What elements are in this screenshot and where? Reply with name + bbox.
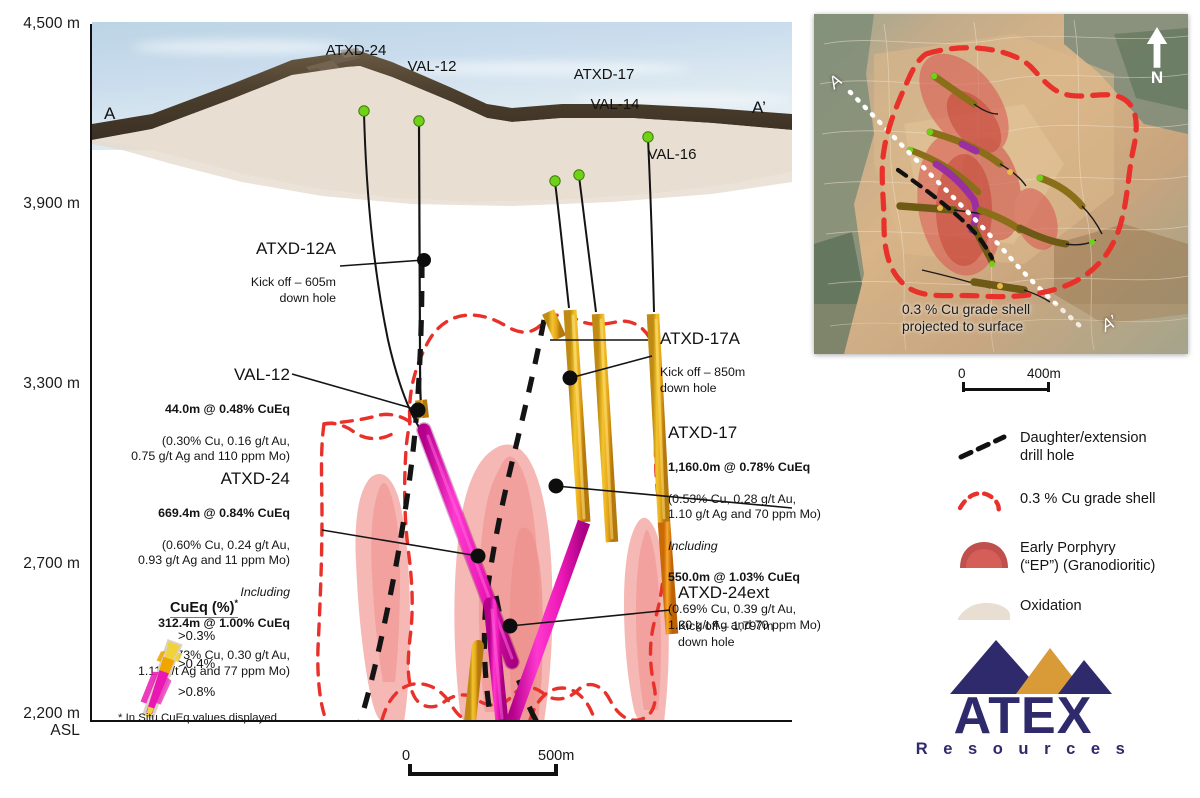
annotation-val-12-main: 44.0m @ 0.48% CuEq [120, 402, 290, 418]
legend-label-grade-shell: 0.3 % Cu grade shell [1020, 491, 1155, 509]
collar-label-val-12: VAL-12 [408, 58, 457, 75]
beige-blob-icon [958, 598, 1010, 620]
legend-item-daughter-hole: Daughter/extension drill hole [958, 430, 1198, 480]
svg-text:N: N [1151, 68, 1163, 86]
section-endpoint-a-prime: A’ [752, 98, 766, 118]
inset-scale-bar [962, 388, 1050, 391]
annotation-atxd-17a-note: Kick off – 850m down hole [660, 365, 745, 395]
legend-label-oxidation: Oxidation [1020, 598, 1082, 616]
y-tick-label-2200: 2,200 m ASL [0, 705, 80, 740]
red-blob-icon [958, 540, 1010, 570]
inset-scale-label-max: 400m [1027, 366, 1061, 381]
annotation-atxd-24-main: 669.4m @ 0.84% CuEq [110, 506, 290, 522]
annotation-val-12-title: VAL-12 [120, 364, 290, 386]
section-scale-label-max: 500m [538, 748, 574, 764]
y-tick-label-3900: 3,900 m [0, 195, 80, 212]
legend-item-oxidation: Oxidation [958, 598, 1198, 638]
annotation-atxd-17-title: ATXD-17 [668, 422, 868, 444]
annotation-atxd-12a: ATXD-12A Kick off – 605m down hole [176, 222, 336, 306]
atxd17a-rod [548, 312, 560, 338]
dashed-red-line-icon [958, 488, 1010, 514]
cueq-legend-title-sup: * [234, 598, 238, 608]
y-tick-label-2700: 2,700 m [0, 555, 80, 572]
inset-map-caption: 0.3 % Cu grade shell projected to surfac… [902, 302, 1030, 335]
annotation-atxd-12a-title: ATXD-12A [176, 238, 336, 259]
legend-item-grade-shell: 0.3 % Cu grade shell [958, 488, 1198, 530]
legend-label-daughter-hole: Daughter/extension drill hole [1020, 430, 1147, 466]
atex-logo-wordmark: ATEX [898, 690, 1148, 742]
annotation-atxd-17a: ATXD-17A Kick off – 850m down hole [660, 312, 840, 396]
cueq-legend-class-2: >0.8% [178, 684, 215, 699]
annotation-atxd-17-detail: (0.53% Cu, 0.28 g/t Au, 1.10 g/t Ag and … [668, 492, 868, 524]
cueq-legend-title-text: CuEq (%) [170, 600, 234, 616]
y-tick-label-4500: 4,500 m [0, 15, 80, 32]
annotation-atxd-17a-title: ATXD-17A [660, 328, 840, 349]
val14-rod [598, 314, 612, 542]
annotation-atxd-24ext-note: Kick off – 1,797m down hole [678, 619, 774, 649]
section-scale-label-zero: 0 [402, 748, 410, 764]
section-endpoint-a: A [104, 104, 115, 124]
collar-label-atxd-24: ATXD-24 [326, 42, 387, 59]
inset-scale-tick-left [962, 382, 965, 392]
section-scale-tick-right [554, 764, 558, 776]
legend-item-early-porphyry: Early Porphyry (“EP”) (Granodioritic) [958, 540, 1198, 588]
inset-scale-label-zero: 0 [958, 366, 966, 381]
dashed-black-line-icon [958, 434, 1010, 460]
annotation-atxd-24ext-title: ATXD-24ext [678, 582, 868, 603]
annotation-atxd-12a-note: Kick off – 605m down hole [251, 275, 336, 305]
collar-label-val-16: VAL-16 [648, 146, 697, 163]
cueq-legend-class-0: >0.3% [178, 628, 215, 643]
inset-scale-tick-right [1047, 382, 1050, 392]
y-tick-label-3300: 3,300 m [0, 375, 80, 392]
annotation-atxd-17-including: Including [668, 539, 868, 555]
collar-label-val-14: VAL-14 [591, 96, 640, 113]
annotation-atxd-17-main: 1,160.0m @ 0.78% CuEq [668, 460, 868, 476]
cross-section-figure: 4,500 m 3,900 m 3,300 m 2,700 m 2,200 m … [0, 0, 1200, 798]
inset-location-map[interactable]: N A A’ 0.3 % Cu grade shell projected to… [814, 14, 1188, 354]
atex-logo: ATEX R e s o u r c e s [898, 634, 1148, 762]
cueq-legend-title: CuEq (%)* [170, 598, 238, 618]
atex-logo-tagline: R e s o u r c e s [898, 740, 1148, 759]
collar-label-atxd-17: ATXD-17 [574, 66, 635, 83]
annotation-atxd-24-detail: (0.60% Cu, 0.24 g/t Au, 0.93 g/t Ag and … [110, 538, 290, 570]
cueq-legend-class-1: >0.4% [178, 656, 215, 671]
section-scale-tick-left [408, 764, 412, 776]
cueq-legend-footnote: * In Situ CuEq values displayed [118, 712, 277, 724]
north-arrow-icon: N [1140, 24, 1174, 86]
legend-label-early-porphyry: Early Porphyry (“EP”) (Granodioritic) [1020, 540, 1155, 576]
section-scale-bar [408, 772, 558, 776]
annotation-atxd-24-title: ATXD-24 [110, 468, 290, 490]
annotation-atxd-24ext: ATXD-24ext Kick off – 1,797m down hole [678, 566, 868, 650]
